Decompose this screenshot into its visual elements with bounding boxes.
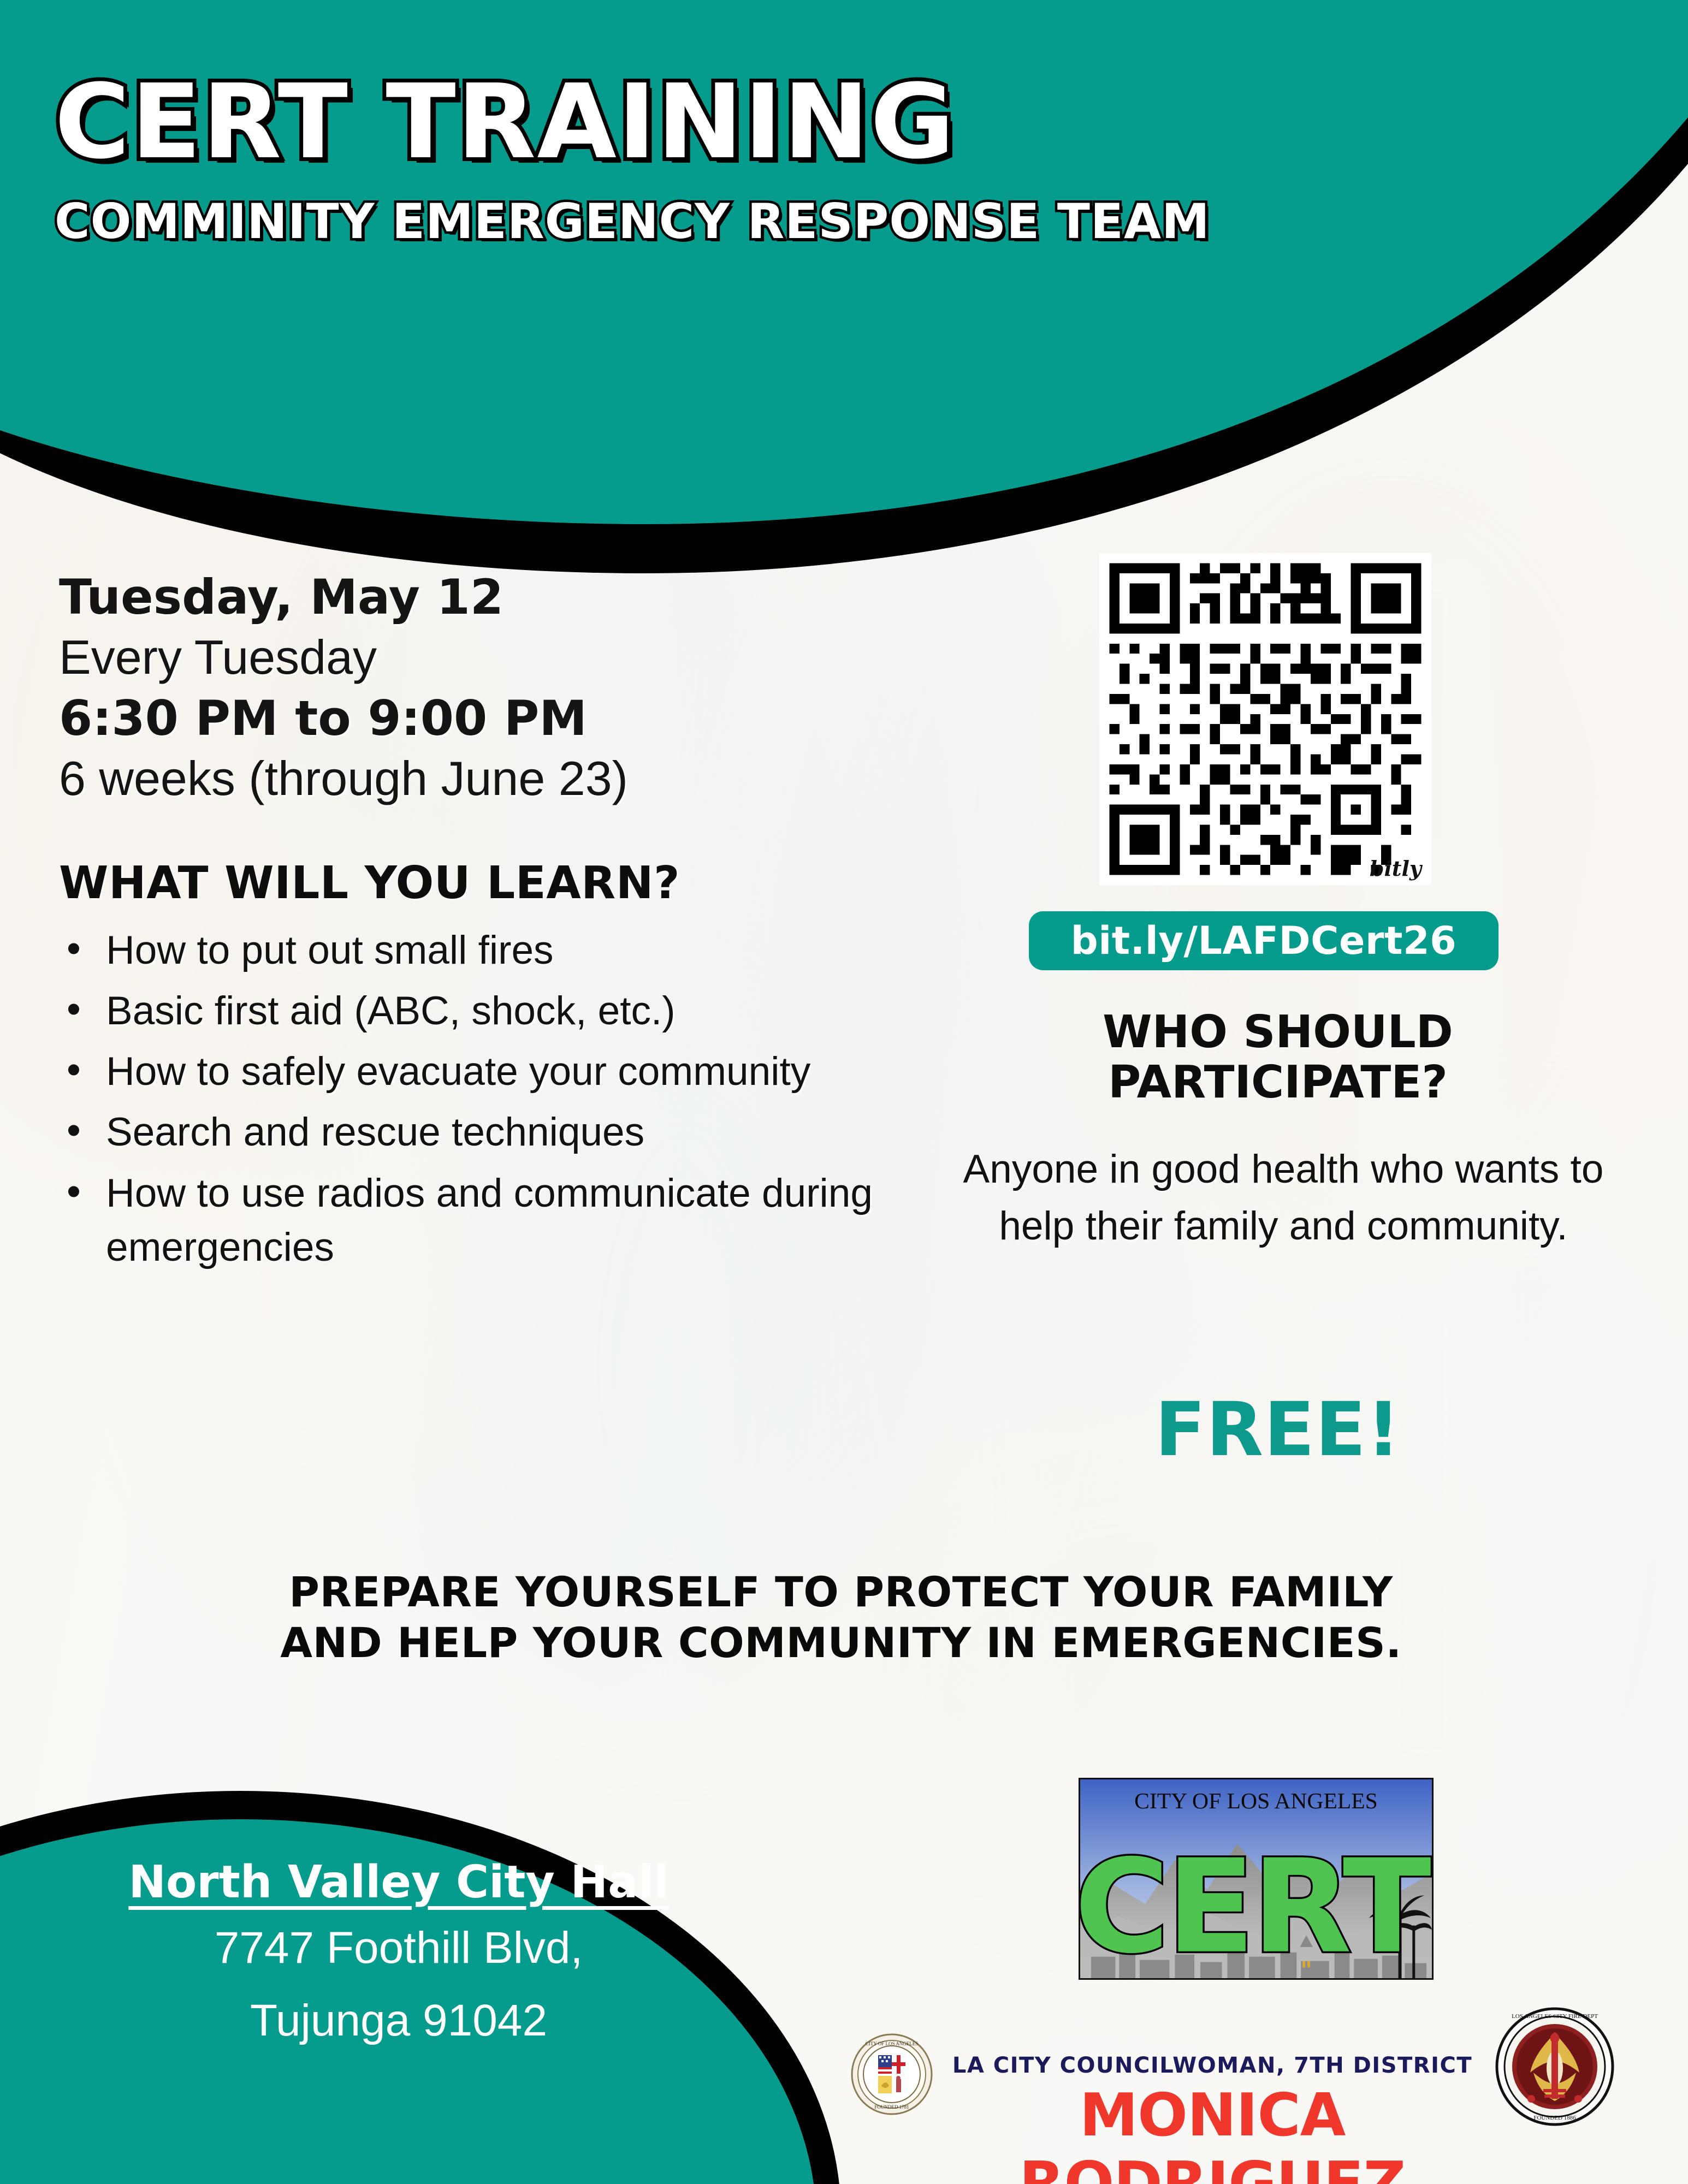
cert-logo: CITY OF LOS ANGELES CERT [1079, 1778, 1434, 1980]
qr-code-image[interactable]: bitly [1099, 553, 1431, 885]
venue-city: Tujunga 91042 [82, 1989, 715, 2054]
svg-text:FOUNDED 1781: FOUNDED 1781 [874, 2104, 909, 2110]
list-item: How to safely evacuate your community [59, 1044, 987, 1099]
learn-list: How to put out small fires Basic first a… [59, 923, 987, 1275]
price-badge: FREE! [1005, 1387, 1551, 1473]
list-item: How to use radios and communicate during… [59, 1166, 987, 1275]
banner-line-1: PREPARE YOURSELF TO PROTECT YOUR FAMILY [98, 1567, 1584, 1618]
event-time: 6:30 PM to 9:00 PM [59, 689, 987, 747]
page-title: CERT TRAINING [55, 71, 1365, 174]
short-url-badge[interactable]: bit.ly/LAFDCert26 [1029, 911, 1499, 970]
event-date: Tuesday, May 12 [59, 568, 987, 626]
list-item: Basic first aid (ABC, shock, etc.) [59, 984, 987, 1038]
header-text-block: CERT TRAINING COMMINITY EMERGENCY RESPON… [55, 71, 1365, 251]
left-column: Tuesday, May 12 Every Tuesday 6:30 PM to… [59, 568, 987, 1281]
event-recurrence: Every Tuesday [59, 626, 987, 689]
venue-street: 7747 Foothill Blvd, [82, 1916, 715, 1981]
participate-heading: WHO SHOULD PARTICIPATE? [1005, 1007, 1551, 1108]
short-url-label: bit.ly/LAFDCert26 [1071, 918, 1457, 963]
svg-text:CITY OF LOS ANGELES: CITY OF LOS ANGELES [866, 2041, 918, 2046]
list-item: How to put out small fires [59, 923, 987, 977]
city-of-la-seal-icon: CITY OF LOS ANGELES FOUNDED 1781 [851, 2033, 933, 2115]
cert-logo-top-text: CITY OF LOS ANGELES [1134, 1788, 1378, 1813]
cert-logo-wordmark: CERT [1080, 1832, 1431, 1978]
venue-name: North Valley City Hall [82, 1856, 715, 1908]
learn-heading: WHAT WILL YOU LEARN? [59, 857, 987, 909]
councilwoman-name: MONICA RODRIGUEZ [928, 2081, 1496, 2184]
banner-line-2: AND HELP YOUR COMMUNITY IN EMERGENCIES. [98, 1618, 1584, 1669]
list-item: Search and rescue techniques [59, 1105, 987, 1159]
svg-text:LOS ANGELES CITY FIRE DEPT: LOS ANGELES CITY FIRE DEPT [1512, 2013, 1598, 2020]
cert-logo-svg: CITY OF LOS ANGELES CERT [1080, 1779, 1432, 1978]
qr-code-svg [1099, 553, 1431, 885]
call-to-action-banner: PREPARE YOURSELF TO PROTECT YOUR FAMILY … [98, 1567, 1584, 1668]
participate-body: Anyone in good health who wants to help … [961, 1141, 1606, 1254]
councilwoman-title: LA CITY COUNCILWOMAN, 7TH DISTRICT [939, 2053, 1485, 2078]
bitly-watermark: bitly [1370, 856, 1422, 881]
svg-text:FOUNDED 1886: FOUNDED 1886 [1533, 2115, 1576, 2121]
flyer-poster: CERT TRAINING COMMINITY EMERGENCY RESPON… [0, 0, 1688, 2184]
event-duration: 6 weeks (through June 23) [59, 747, 987, 810]
location-block: North Valley City Hall 7747 Foothill Blv… [82, 1856, 715, 2054]
page-subtitle: COMMINITY EMERGENCY RESPONSE TEAM [55, 192, 1256, 251]
lafd-seal-icon: LOS ANGELES CITY FIRE DEPT FOUNDED 1886 [1495, 2007, 1614, 2126]
qr-code-block[interactable]: bitly [1099, 553, 1431, 885]
